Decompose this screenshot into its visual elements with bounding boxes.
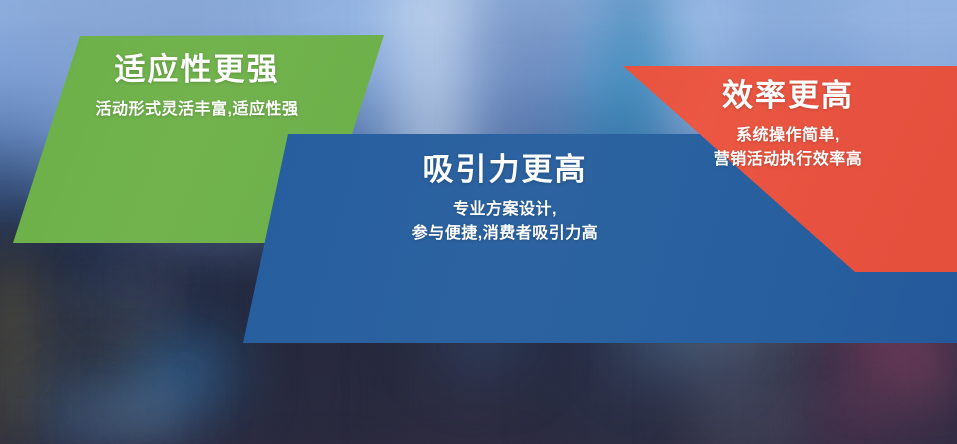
feature-card-efficiency[interactable]: 效率更高 系统操作简单, 营销活动执行效率高: [560, 30, 957, 320]
red-subtitle-line-1: 系统操作简单,: [648, 124, 928, 149]
red-title: 效率更高: [648, 78, 928, 114]
red-subtitle-line-2: 营销活动执行效率高: [648, 148, 928, 173]
red-subtitle: 系统操作简单, 营销活动执行效率高: [648, 124, 928, 174]
bg-light: [0, 290, 40, 330]
bg-light: [4, 360, 40, 402]
feature-banner: 适应性更强 活动形式灵活丰富,适应性强 吸引力更高 专业方案设计, 参与便捷,消…: [0, 0, 957, 444]
bg-light: [96, 300, 130, 352]
red-text-block: 效率更高 系统操作简单, 营销活动执行效率高: [648, 78, 928, 173]
red-parallelogram: [560, 30, 957, 320]
green-title: 适应性更强: [62, 52, 332, 88]
